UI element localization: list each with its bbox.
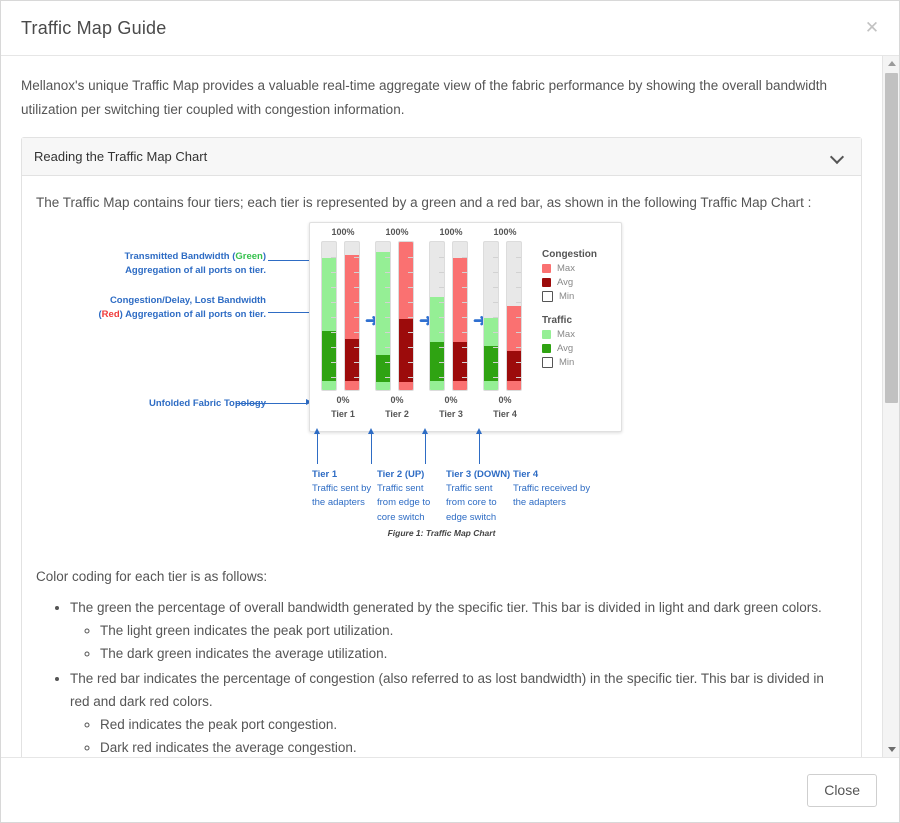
- tier-callout-title: Tier 1: [312, 468, 376, 482]
- legend-group-congestion: Congestion Max Avg: [542, 249, 616, 302]
- traffic-map-chart: 100%0%Tier 1➜100%0%Tier 2➜100%0%Tier 3➜1…: [309, 222, 622, 432]
- tier-name-label: Tier 2: [372, 409, 422, 419]
- dialog-footer: Close: [1, 757, 899, 822]
- tier-callout-title: Tier 4: [513, 468, 597, 482]
- green-word: Green: [235, 251, 262, 262]
- traffic-map-guide-dialog: Traffic Map Guide ✕ Mellanox's unique Tr…: [0, 0, 900, 823]
- tier-column: 100%0%Tier 2: [372, 223, 422, 431]
- callout-arrow-icon: [368, 428, 374, 434]
- dialog-header: Traffic Map Guide ✕: [1, 1, 899, 56]
- tick-marks: [430, 242, 444, 390]
- traffic-bar: [375, 241, 393, 391]
- tick-marks: [376, 242, 390, 390]
- traffic-bar: [483, 241, 501, 391]
- traffic-bar-track: [375, 241, 391, 391]
- tier-callout-desc: Traffic received by the adapters: [513, 483, 590, 508]
- congestion-bar-track: [398, 241, 414, 391]
- traffic-map-figure: Transmitted Bandwidth (Green) Aggregatio…: [36, 222, 847, 552]
- accordion-body: The Traffic Map contains four tiers; eac…: [22, 176, 861, 757]
- tick-marks: [453, 242, 467, 390]
- close-button[interactable]: Close: [807, 774, 877, 807]
- traffic-bar-track: [483, 241, 499, 391]
- legend-item: Min: [542, 291, 616, 302]
- tier-name-label: Tier 3: [426, 409, 476, 419]
- callout-connector: [371, 434, 372, 464]
- tier-column: 100%0%Tier 4: [480, 223, 530, 431]
- callout-connector: [317, 434, 318, 464]
- tier-name-label: Tier 4: [480, 409, 530, 419]
- tier-bottom-label: 0%: [480, 395, 530, 405]
- annotation-transmitted-bandwidth: Transmitted Bandwidth (Green) Aggregatio…: [86, 250, 266, 278]
- legend-item: Avg: [542, 343, 616, 354]
- callout-arrow-icon: [476, 428, 482, 434]
- red-word: Red: [102, 309, 120, 320]
- color-coding-intro: Color coding for each tier is as follows…: [36, 566, 847, 588]
- tier-callout: Tier 4Traffic received by the adapters: [513, 468, 597, 511]
- figure-caption: Figure 1: Traffic Map Chart: [36, 528, 847, 538]
- tier-column: 100%0%Tier 3: [426, 223, 476, 431]
- congestion-bar-track: [452, 241, 468, 391]
- tier-bottom-label: 0%: [318, 395, 368, 405]
- sub-list-item: Dark red indicates the average congestio…: [100, 737, 847, 757]
- congestion-bar-track: [506, 241, 522, 391]
- legend-swatch-congestion-min: [542, 291, 553, 302]
- tick-marks: [322, 242, 336, 390]
- congestion-bar: [506, 241, 524, 391]
- tier-name-label: Tier 1: [318, 409, 368, 419]
- callout-connector: [425, 434, 426, 464]
- list-item-text: The red bar indicates the percentage of …: [70, 671, 824, 709]
- legend-label: Max: [557, 263, 575, 274]
- dialog-body: Mellanox's unique Traffic Map provides a…: [1, 56, 899, 757]
- leader-line-1: [268, 260, 312, 261]
- tick-marks: [345, 242, 359, 390]
- list-item-text: The green the percentage of overall band…: [70, 600, 822, 615]
- tick-marks: [507, 242, 521, 390]
- color-coding-list: The green the percentage of overall band…: [36, 597, 847, 757]
- legend-swatch-traffic-min: [542, 357, 553, 368]
- congestion-bar: [452, 241, 470, 391]
- legend-swatch-congestion-max: [542, 264, 551, 273]
- traffic-bar: [429, 241, 447, 391]
- tick-marks: [399, 242, 413, 390]
- sub-list-item: Red indicates the peak port congestion.: [100, 714, 847, 737]
- legend-spacer: [542, 305, 616, 315]
- list-item: The green the percentage of overall band…: [70, 597, 847, 666]
- annotation-congestion-delay: Congestion/Delay, Lost Bandwidth (Red) A…: [74, 294, 266, 322]
- chevron-down-icon[interactable]: [831, 150, 845, 164]
- callout-connector: [479, 434, 480, 464]
- legend-item: Avg: [542, 277, 616, 288]
- traffic-bar: [321, 241, 339, 391]
- legend-label: Avg: [557, 343, 573, 354]
- tier-bottom-label: 0%: [426, 395, 476, 405]
- sub-list-item: The light green indicates the peak port …: [100, 620, 847, 643]
- legend-swatch-traffic-avg: [542, 344, 551, 353]
- congestion-bar: [398, 241, 416, 391]
- tick-marks: [484, 242, 498, 390]
- chart-legend: Congestion Max Avg: [542, 249, 616, 371]
- leader-line-3: [236, 403, 308, 404]
- accordion-title: Reading the Traffic Map Chart: [34, 149, 831, 164]
- legend-item: Min: [542, 357, 616, 368]
- tier-column: 100%0%Tier 1: [318, 223, 368, 431]
- tier-callout: Tier 1Traffic sent by the adapters: [312, 468, 376, 511]
- accordion-reading-traffic-map: Reading the Traffic Map Chart The Traffi…: [21, 137, 862, 757]
- page-title: Traffic Map Guide: [21, 18, 166, 39]
- tier-bottom-label: 0%: [372, 395, 422, 405]
- tier-callout-desc: Traffic sent by the adapters: [312, 483, 371, 508]
- legend-label: Max: [557, 329, 575, 340]
- intro-paragraph: Mellanox's unique Traffic Map provides a…: [21, 74, 861, 121]
- sub-list: The light green indicates the peak port …: [70, 620, 847, 666]
- triangle-down-icon: [888, 747, 896, 752]
- traffic-bar-track: [429, 241, 445, 391]
- legend-label: Min: [559, 291, 574, 302]
- legend-label: Min: [559, 357, 574, 368]
- tier-bars-container: 100%0%Tier 1➜100%0%Tier 2➜100%0%Tier 3➜1…: [318, 223, 533, 431]
- tier-top-label: 100%: [318, 227, 368, 237]
- tier-callout-desc: Traffic sent from core to edge switch: [446, 483, 497, 523]
- tier-callout: Tier 2 (UP)Traffic sent from edge to cor…: [377, 468, 439, 525]
- callout-arrow-icon: [314, 428, 320, 434]
- legend-group-title: Traffic: [542, 315, 616, 326]
- close-icon[interactable]: ✕: [861, 17, 883, 39]
- tier-callout: Tier 3 (DOWN)Traffic sent from core to e…: [446, 468, 512, 525]
- vertical-scrollbar[interactable]: [882, 56, 899, 757]
- triangle-up-icon: [888, 61, 896, 66]
- scroll-content: Mellanox's unique Traffic Map provides a…: [1, 56, 882, 757]
- tier-top-label: 100%: [426, 227, 476, 237]
- legend-swatch-congestion-avg: [542, 278, 551, 287]
- sub-list: Red indicates the peak port congestion.D…: [70, 714, 847, 757]
- tier-callout-title: Tier 2 (UP): [377, 468, 439, 482]
- tier-top-label: 100%: [372, 227, 422, 237]
- accordion-header[interactable]: Reading the Traffic Map Chart: [22, 138, 861, 176]
- sub-list-item: The dark green indicates the average uti…: [100, 643, 847, 666]
- congestion-bar: [344, 241, 362, 391]
- traffic-bar-track: [321, 241, 337, 391]
- congestion-bar-track: [344, 241, 360, 391]
- legend-label: Avg: [557, 277, 573, 288]
- tier-callout-title: Tier 3 (DOWN): [446, 468, 512, 482]
- tier-callout-desc: Traffic sent from edge to core switch: [377, 483, 430, 523]
- legend-group-traffic: Traffic Max Avg: [542, 315, 616, 368]
- list-item: The red bar indicates the percentage of …: [70, 668, 847, 757]
- scrollbar-thumb[interactable]: [885, 73, 898, 403]
- legend-item: Max: [542, 329, 616, 340]
- scroll-up-button[interactable]: [883, 56, 899, 71]
- legend-group-title: Congestion: [542, 249, 616, 260]
- scroll-down-button[interactable]: [883, 742, 899, 757]
- callout-arrow-icon: [422, 428, 428, 434]
- legend-item: Max: [542, 263, 616, 274]
- legend-swatch-traffic-max: [542, 330, 551, 339]
- accordion-lead-text: The Traffic Map contains four tiers; eac…: [36, 192, 847, 214]
- tier-top-label: 100%: [480, 227, 530, 237]
